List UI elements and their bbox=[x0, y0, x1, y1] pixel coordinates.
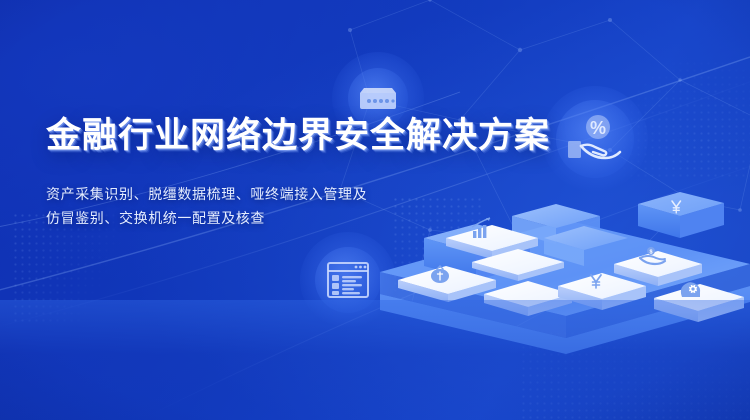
subtitle-line-1: 资产采集识别、脱缰数据梳理、哑终端接入管理及 bbox=[46, 182, 367, 206]
headline-block: 金融行业网络边界安全解决方案 bbox=[46, 118, 550, 153]
svg-text:$: $ bbox=[649, 250, 652, 256]
svg-text:%: % bbox=[590, 118, 606, 138]
subtitle-line-2: 仿冒鉴别、交换机统一配置及核查 bbox=[46, 206, 367, 230]
network-switch-icon bbox=[356, 83, 400, 113]
page-subtitle: 资产采集识别、脱缰数据梳理、哑终端接入管理及 仿冒鉴别、交换机统一配置及核查 bbox=[46, 182, 367, 230]
checklist-window-icon bbox=[325, 260, 371, 300]
foreground-plinth bbox=[0, 300, 750, 420]
finance-security-banner: % 金融行业网 bbox=[0, 0, 750, 420]
hand-percent-icon: % bbox=[564, 112, 626, 166]
tile-yen-block bbox=[638, 192, 724, 238]
page-title: 金融行业网络边界安全解决方案 bbox=[46, 118, 550, 153]
